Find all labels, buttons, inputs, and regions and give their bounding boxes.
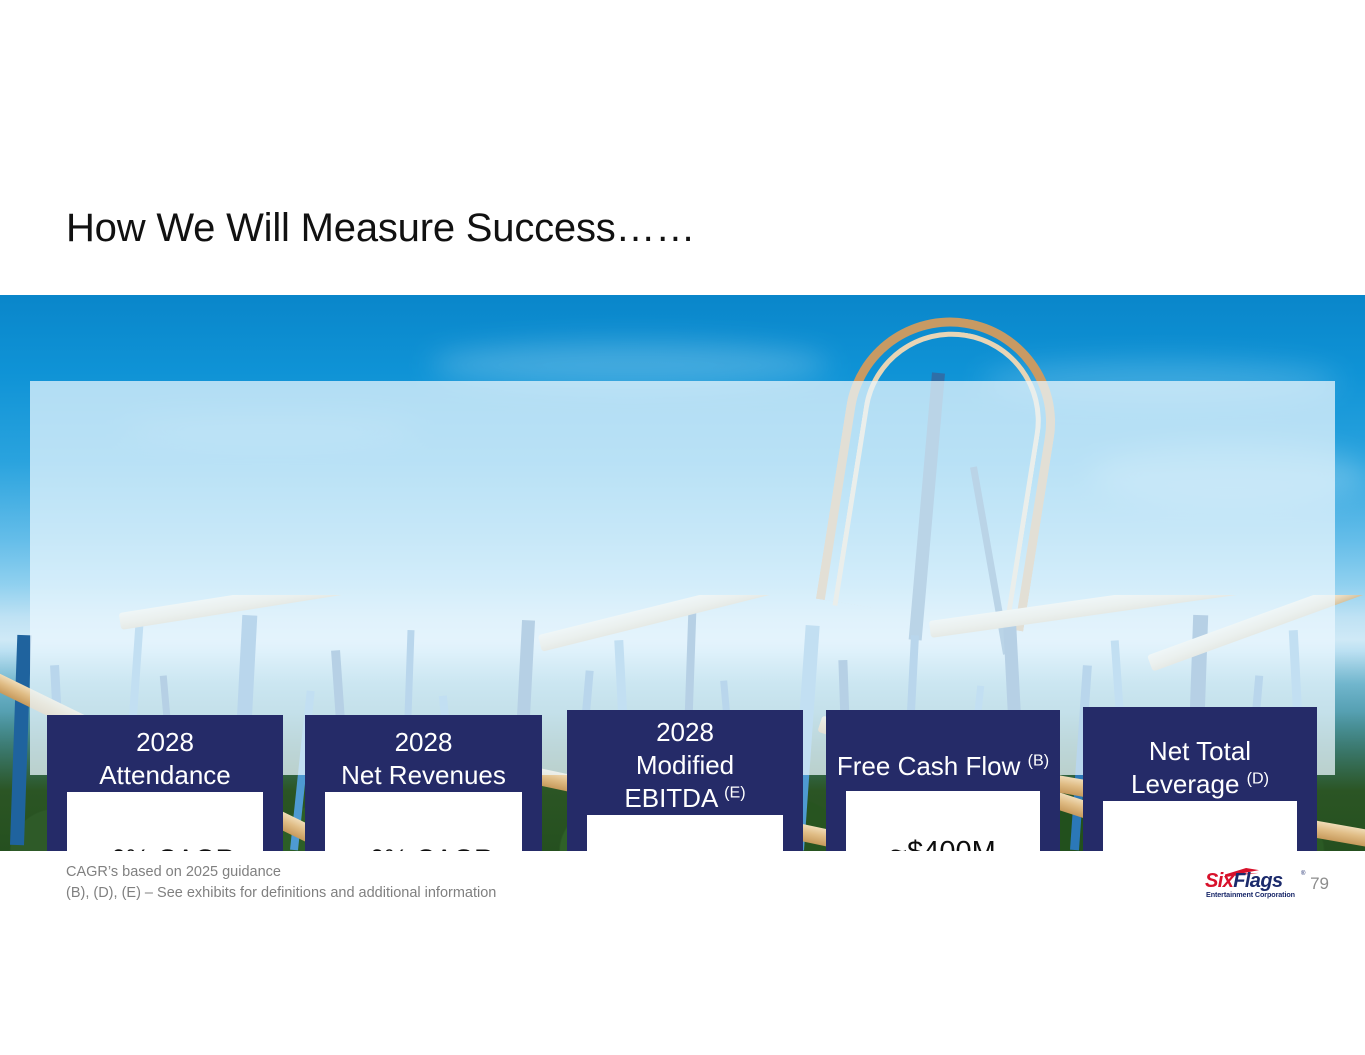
- metric-card-header-line: Attendance: [53, 759, 277, 792]
- metric-card-header: 2028Attendance: [47, 715, 283, 792]
- metric-card: 2028Attendance~6% CAGR~58M guests: [47, 715, 283, 851]
- page-number: 79: [1310, 874, 1329, 894]
- metric-card-body: ~10% CAGR~$1.5B: [587, 815, 783, 851]
- footnotes: CAGR’s based on 2025 guidance (B), (D), …: [66, 862, 496, 904]
- metric-value: <4.0x: [1164, 848, 1236, 851]
- metric-card-header-line: Leverage (D): [1089, 768, 1311, 801]
- metric-value: ~$400M: [890, 836, 996, 852]
- six-flags-logo: SixFlags ® Entertainment Corporation: [1205, 868, 1310, 898]
- page-title: How We Will Measure Success……: [66, 206, 695, 251]
- metric-card-header: 2028ModifiedEBITDA (E): [567, 710, 803, 815]
- footnote-marker: (B): [1028, 751, 1049, 769]
- metric-card-header: Net TotalLeverage (D): [1083, 707, 1317, 801]
- metric-card-header-line: Modified: [573, 749, 797, 782]
- metric-card-header-line: Net Total: [1089, 735, 1311, 768]
- metric-card-header: Free Cash Flow (B): [826, 710, 1060, 783]
- metric-value: ~6% CAGR: [353, 843, 493, 851]
- metric-card-header-line: Free Cash Flow (B): [832, 750, 1054, 783]
- footnote-marker: (D): [1247, 769, 1269, 787]
- metric-card-header-line: Net Revenues: [311, 759, 536, 792]
- metric-card: Net TotalLeverage (D)<4.0xAdj. EBITDA(E)…: [1083, 707, 1317, 851]
- metric-card-body: ~6% CAGR~$3.8B: [325, 792, 522, 851]
- metric-card-header-line: 2028: [573, 716, 797, 749]
- logo-six-text: Six: [1205, 870, 1233, 892]
- footnote-marker: (E): [724, 783, 745, 801]
- metric-card-row: 2028Attendance~6% CAGR~58M guests2028Net…: [0, 295, 1365, 851]
- metric-card-body: <4.0xAdj. EBITDA(E)by the end of 2026: [1103, 801, 1297, 851]
- metric-card: 2028Net Revenues~6% CAGR~$3.8B: [305, 715, 542, 851]
- logo-subtitle: Entertainment Corporation: [1206, 890, 1295, 899]
- metric-card-body: ~$400MFree Cash Flow Lift from 2025: [846, 791, 1040, 851]
- hero-photo-band: 2028Attendance~6% CAGR~58M guests2028Net…: [0, 295, 1365, 851]
- metric-card-header: 2028Net Revenues: [305, 715, 542, 792]
- metric-card-header-line: 2028: [311, 726, 536, 759]
- registered-trademark-icon: ®: [1301, 871, 1305, 877]
- metric-card-header-line: EBITDA (E): [573, 782, 797, 815]
- footnote-line-1: CAGR’s based on 2025 guidance: [66, 862, 496, 883]
- metric-card: 2028ModifiedEBITDA (E)~10% CAGR~$1.5B: [567, 710, 803, 851]
- metric-card: Free Cash Flow (B)~$400MFree Cash Flow L…: [826, 710, 1060, 851]
- metric-card-header-line: 2028: [53, 726, 277, 759]
- metric-value: ~6% CAGR: [95, 843, 235, 851]
- logo-flags-text: Flags: [1233, 870, 1282, 892]
- footnote-line-2: (B), (D), (E) – See exhibits for definit…: [66, 883, 496, 904]
- metric-card-body: ~6% CAGR~58M guests: [67, 792, 263, 851]
